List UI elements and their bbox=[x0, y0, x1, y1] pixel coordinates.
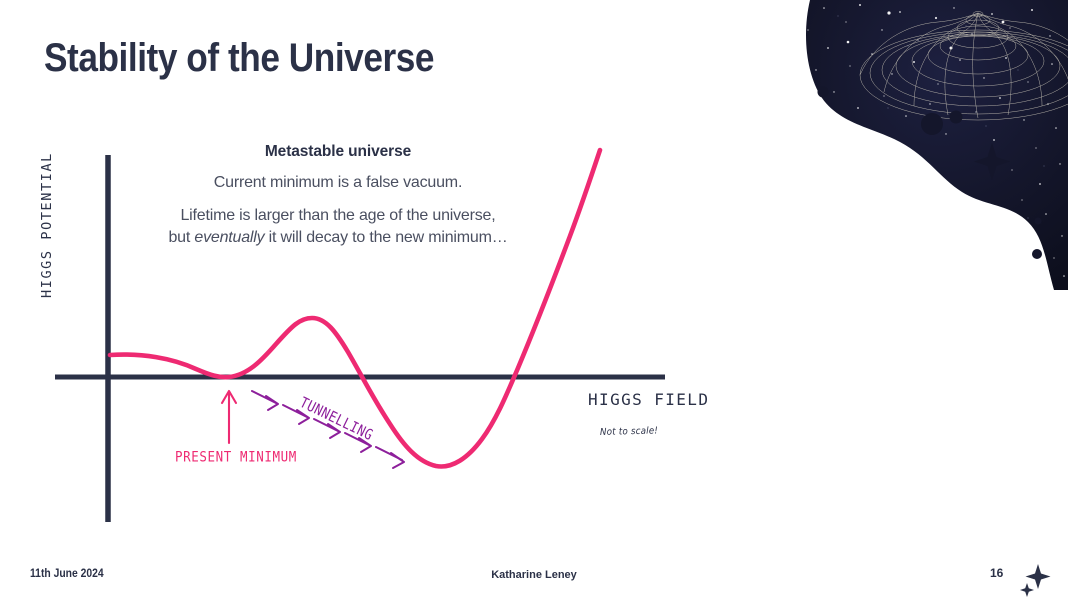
starfield-clip-group bbox=[788, 0, 1068, 290]
present-minimum-label: PRESENT MINIMUM bbox=[175, 448, 297, 465]
starfield-svg bbox=[788, 0, 1068, 290]
plot-svg bbox=[0, 0, 720, 560]
not-to-scale-note: Not to scale! bbox=[600, 425, 658, 438]
footer-author: Katharine Leney bbox=[0, 569, 1068, 581]
sparkle-icon bbox=[974, 143, 1010, 180]
space-corner-decoration bbox=[788, 0, 1068, 290]
y-axis-label: HIGGS POTENTIAL bbox=[39, 178, 55, 298]
page-number: 16 bbox=[990, 566, 1003, 580]
x-axis-label: HIGGS FIELD bbox=[588, 390, 709, 409]
sparkle-small-icon bbox=[1020, 583, 1034, 597]
higgs-potential-plot: HIGGS POTENTIAL HIGGS FIELD Not to scale… bbox=[0, 0, 720, 560]
mexican-hat-wireframe bbox=[860, 12, 1068, 121]
present-minimum-arrow bbox=[222, 391, 236, 443]
decorative-dots bbox=[818, 87, 1043, 260]
sparkle-large-icon bbox=[1026, 564, 1051, 589]
slide: Stability of the Universe Metastable uni… bbox=[0, 0, 1068, 601]
footer-sparkles bbox=[1012, 560, 1060, 600]
